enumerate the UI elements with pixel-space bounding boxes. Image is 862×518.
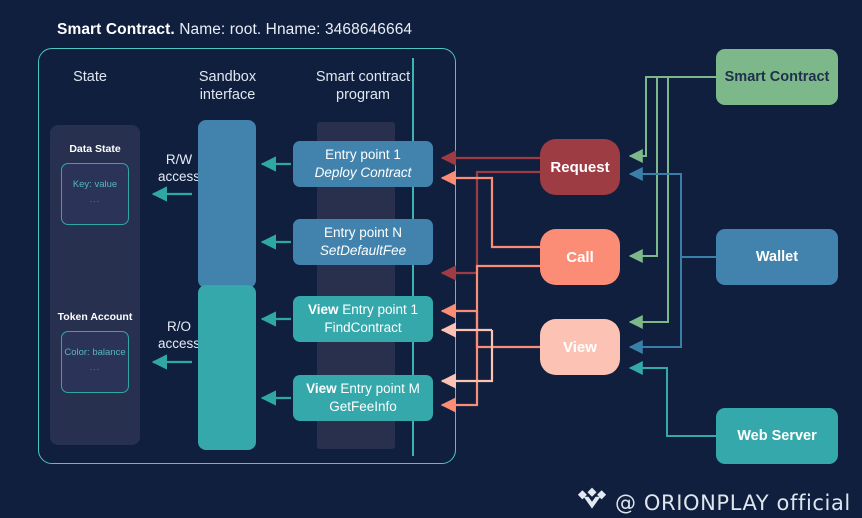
- view-entry-point-get-fee-info[interactable]: View Entry point M GetFeeInfo: [293, 375, 433, 421]
- sandbox-interface-rw-bar: [198, 120, 256, 288]
- node-view[interactable]: View: [540, 319, 620, 375]
- data-state-box: Key: value ...: [61, 163, 129, 225]
- node-request-label: Request: [550, 159, 609, 176]
- column-heading-sandbox: Sandbox interface: [185, 68, 270, 104]
- line-webserver-to-view: [630, 368, 716, 436]
- view-entry-point-1-line: View Entry point 1: [308, 301, 418, 319]
- entry-point-n-title: Entry point N: [324, 224, 402, 242]
- data-state-title: Data State: [50, 143, 140, 155]
- external-web-server-label: Web Server: [737, 428, 817, 444]
- external-wallet[interactable]: Wallet: [716, 229, 838, 285]
- node-view-label: View: [563, 339, 597, 356]
- entry-point-n-sub: SetDefaultFee: [320, 242, 406, 260]
- data-state-dots: ...: [62, 193, 128, 206]
- line-wallet-to-view: [630, 257, 681, 347]
- sandbox-interface-ro-bar: [198, 285, 256, 450]
- external-web-server[interactable]: Web Server: [716, 408, 838, 464]
- line-wallet-to-request: [630, 174, 716, 257]
- external-wallet-label: Wallet: [756, 249, 798, 265]
- line-smartcontract-to-request: [630, 77, 716, 156]
- data-state-value: Key: value: [73, 179, 117, 190]
- view-entry-point-1-title: Entry point 1: [342, 302, 418, 317]
- watermark-text: @ ORIONPLAY official: [615, 491, 851, 515]
- line-smartcontract-to-view: [630, 77, 668, 322]
- page-title: Smart Contract. Name: root. Hname: 34686…: [57, 21, 412, 39]
- view-entry-point-m-line: View Entry point M: [306, 380, 420, 398]
- token-account-value: Color: balance: [64, 347, 125, 358]
- node-call-label: Call: [566, 249, 594, 266]
- watermark: @ ORIONPLAY official: [578, 487, 851, 518]
- arrow-request-to-epn: [442, 172, 540, 273]
- arrow-call-to-ep1: [442, 178, 540, 247]
- arrow-call-to-evm: [442, 266, 540, 405]
- view-entry-point-m-sub: GetFeeInfo: [329, 398, 397, 416]
- entry-point-set-default-fee[interactable]: Entry point N SetDefaultFee: [293, 219, 433, 265]
- column-heading-state: State: [49, 68, 131, 86]
- diagram-canvas: Smart Contract. Name: root. Hname: 34686…: [0, 0, 862, 514]
- node-call[interactable]: Call: [540, 229, 620, 285]
- diamond-cluster-logo-svg: [578, 487, 606, 513]
- view-entry-point-m-title: Entry point M: [340, 381, 420, 396]
- node-request[interactable]: Request: [540, 139, 620, 195]
- view-badge-m: View: [306, 381, 337, 396]
- external-smart-contract-label: Smart Contract: [725, 69, 830, 85]
- view-entry-point-find-contract[interactable]: View Entry point 1 FindContract: [293, 296, 433, 342]
- external-smart-contract[interactable]: Smart Contract: [716, 49, 838, 105]
- entry-point-deploy-contract[interactable]: Entry point 1 Deploy Contract: [293, 141, 433, 187]
- entry-point-1-sub: Deploy Contract: [315, 164, 412, 182]
- line-smartcontract-to-call: [630, 77, 657, 256]
- page-title-rest: Name: root. Hname: 3468646664: [175, 21, 412, 38]
- entry-point-1-title: Entry point 1: [325, 146, 401, 164]
- token-account-box: Color: balance ...: [61, 331, 129, 393]
- view-entry-point-1-sub: FindContract: [324, 319, 401, 337]
- arrow-view-to-ev1: [442, 311, 540, 347]
- view-badge-1: View: [308, 302, 339, 317]
- token-account-dots: ...: [62, 361, 128, 374]
- token-account-title: Token Account: [50, 311, 140, 323]
- page-title-bold: Smart Contract.: [57, 21, 175, 38]
- diamond-cluster-logo-icon: [578, 487, 606, 518]
